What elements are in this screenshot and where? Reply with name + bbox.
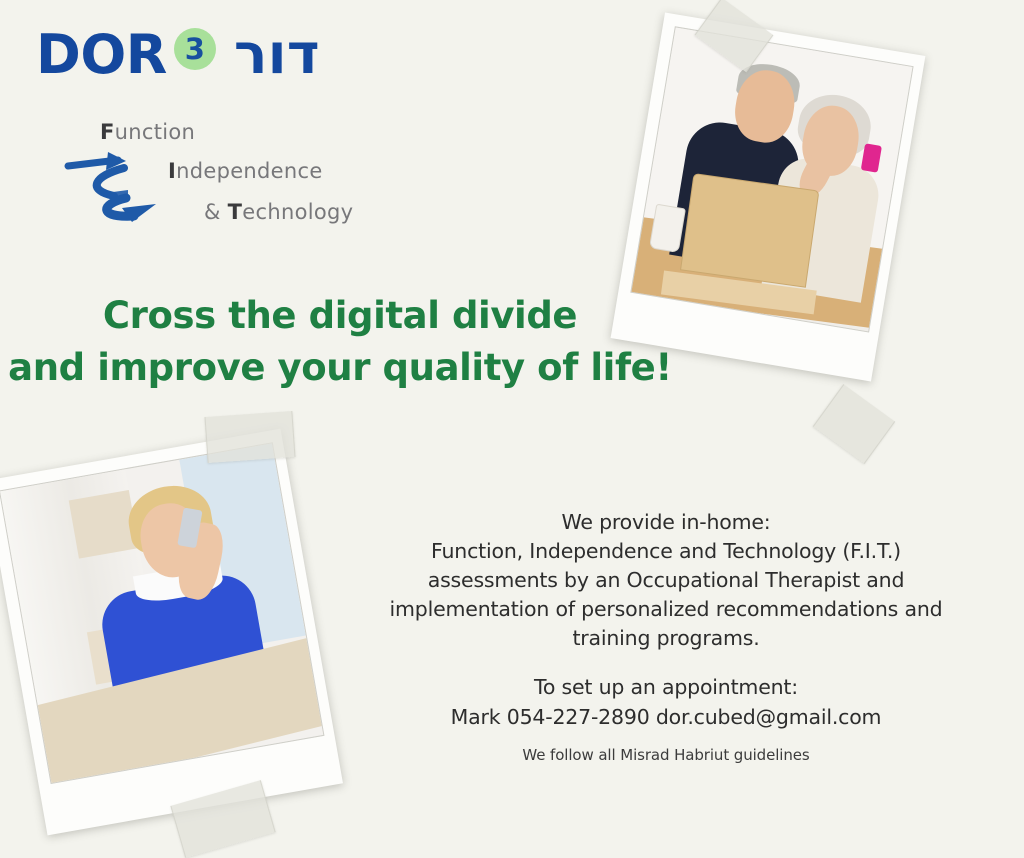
contact-details[interactable]: Mark 054-227-2890 dor.cubed@gmail.com (336, 702, 996, 732)
photo-woman-image (0, 442, 324, 784)
tagline-independence-rest: ndependence (176, 159, 322, 183)
tagline-technology-initial: T (228, 200, 243, 224)
tagline-function: Function (100, 120, 195, 144)
tagline-function-rest: unction (115, 120, 196, 144)
logo-hebrew-name: דור (234, 22, 320, 88)
masking-tape-couple-bottom (813, 384, 895, 464)
headline: Cross the digital divide and improve you… (0, 290, 680, 394)
logo-wordmark: DOR 3 דור (36, 22, 320, 94)
photo-couple-at-laptop (611, 12, 926, 381)
photo-couple-laptop-lid (680, 173, 819, 288)
headline-line-1: Cross the digital divide (0, 290, 680, 342)
tagline-technology: & Technology (204, 200, 353, 224)
logo-cubed-badge: 3 (174, 28, 216, 70)
services-line-5: training programs. (336, 624, 996, 653)
contact-block: To set up an appointment: Mark 054-227-2… (336, 672, 996, 732)
masking-tape-woman-top (205, 411, 296, 463)
photo-couple-image (630, 26, 913, 332)
brand-tagline: Function Independence & Technology (64, 96, 424, 216)
zigzag-arrow-icon (64, 146, 224, 224)
services-line-3: assessments by an Occupational Therapist… (336, 566, 996, 595)
logo-latin-name: DOR (36, 22, 167, 88)
brand-logo: DOR 3 דור Function Independence & Techno… (36, 22, 436, 212)
tagline-function-initial: F (100, 120, 115, 144)
tagline-independence-initial: I (168, 159, 176, 183)
services-line-1: We provide in-home: (336, 508, 996, 537)
services-line-4: implementation of personalized recommend… (336, 595, 996, 624)
headline-line-2: and improve your quality of life! (0, 342, 680, 394)
services-line-2: Function, Independence and Technology (F… (336, 537, 996, 566)
photo-woman-on-phone (0, 429, 343, 836)
tagline-independence: Independence (168, 159, 323, 183)
logo-superscript-three: 3 (174, 28, 216, 70)
contact-heading: To set up an appointment: (336, 672, 996, 702)
health-ministry-disclaimer: We follow all Misrad Habriut guidelines (336, 746, 996, 764)
services-description: We provide in-home: Function, Independen… (336, 508, 996, 653)
flyer-poster: DOR 3 דור Function Independence & Techno… (0, 0, 1024, 858)
tagline-ampersand: & (204, 200, 228, 224)
tagline-technology-rest: echnology (242, 200, 353, 224)
